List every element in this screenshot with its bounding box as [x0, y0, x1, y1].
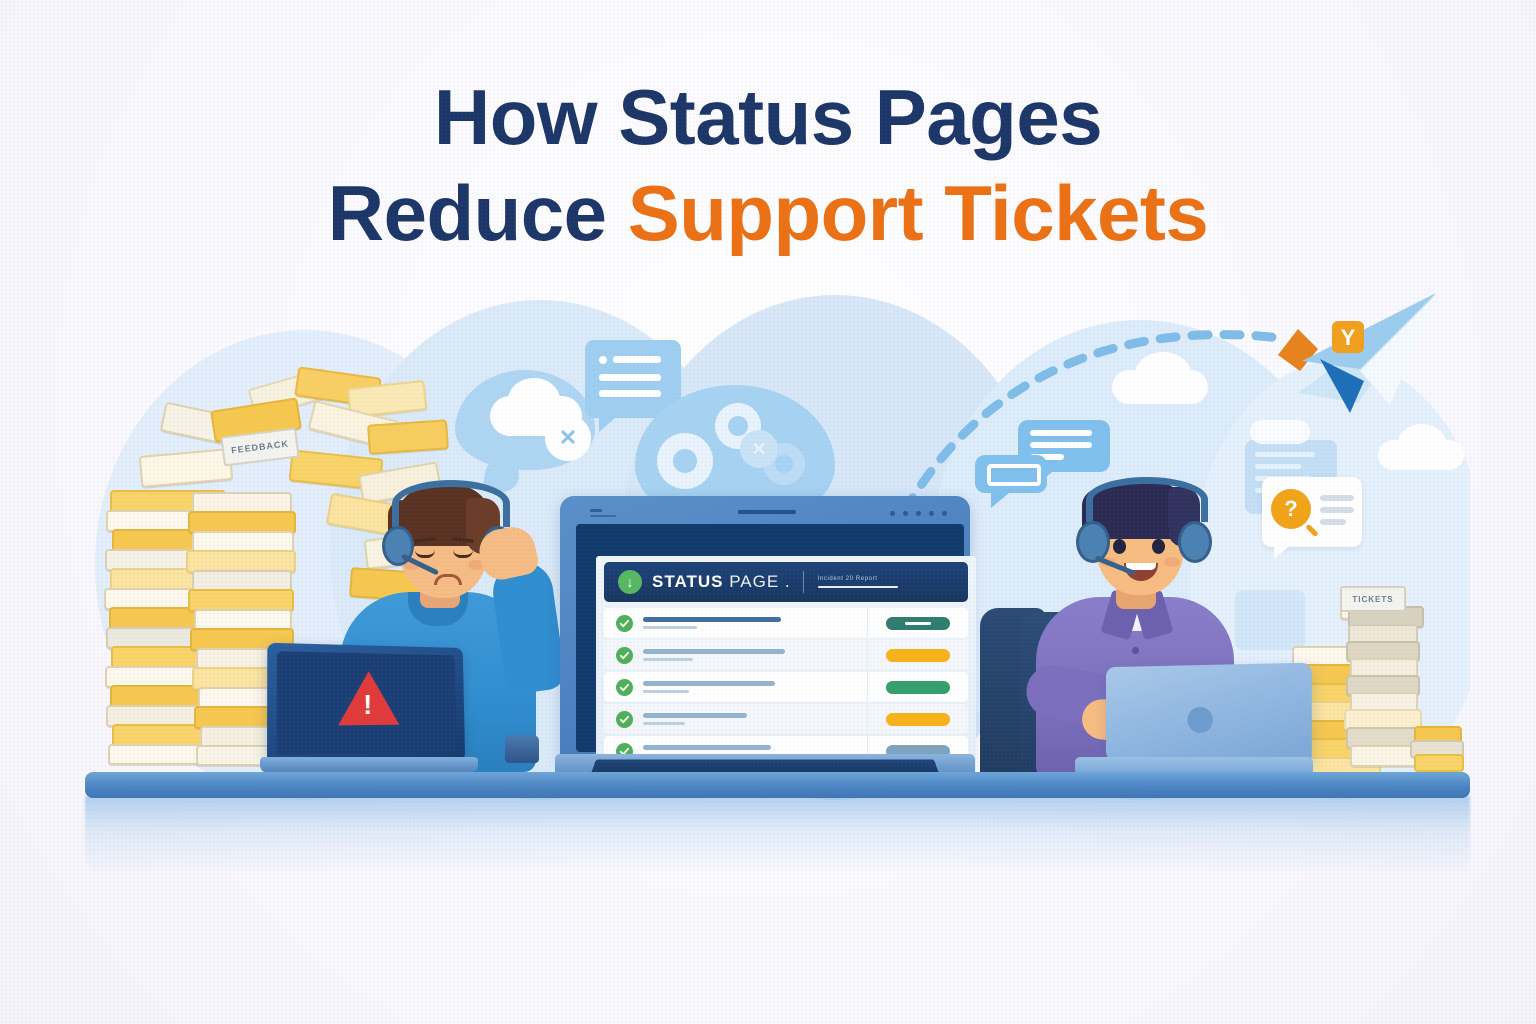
right-agent-laptop: [1075, 665, 1315, 783]
warning-exclamation: !: [363, 691, 372, 719]
brand-light: PAGE .: [723, 572, 790, 591]
status-row[interactable]: [604, 608, 968, 638]
status-page-screen: ↓ STATUS PAGE . Incident 20 Report: [596, 556, 976, 776]
row-status-cell: [867, 640, 968, 670]
cloud-icon: [508, 378, 560, 422]
laptop-lid: ↓ STATUS PAGE . Incident 20 Report: [560, 496, 970, 761]
title-line-2-accent: Support Tickets: [628, 169, 1209, 257]
headset-earcup-icon: [1076, 521, 1110, 563]
gear-icon: [657, 433, 713, 489]
title-line-2: Reduce Support Tickets: [0, 174, 1536, 252]
check-circle-icon: [616, 711, 633, 728]
header-meta-text: Incident 20 Report: [818, 576, 898, 582]
status-badge: [886, 713, 950, 726]
desk-reflection: [85, 796, 1470, 874]
status-page-laptop: ↓ STATUS PAGE . Incident 20 Report: [555, 496, 975, 796]
status-rows-table: [604, 608, 968, 768]
faq-card: ?: [1262, 477, 1362, 547]
status-badge: [886, 681, 950, 694]
x-mark-icon: ✕: [545, 415, 591, 461]
status-badge: [886, 649, 950, 662]
desk-surface: [85, 772, 1470, 798]
row-label-bars: [643, 713, 867, 725]
row-label-bars: [643, 617, 867, 629]
header-divider: [803, 571, 804, 593]
x-mark-icon: ✕: [740, 430, 778, 468]
headset-earcup-icon: [1178, 521, 1212, 563]
cloud-icon: [1398, 424, 1446, 462]
headset-band-icon: [1086, 477, 1208, 522]
row-status-cell: [867, 608, 968, 638]
illustration-canvas: How Status Pages Reduce Support Tickets …: [0, 0, 1536, 1024]
header-meta: Incident 20 Report: [818, 576, 898, 588]
brand-bold: STATUS: [652, 572, 723, 591]
desk-mouse: [505, 735, 539, 763]
download-circle-icon: ↓: [618, 570, 642, 594]
stack-label: TICKETS: [1340, 586, 1406, 612]
title-line-2-prefix: Reduce: [328, 169, 628, 257]
check-circle-icon: [616, 679, 633, 696]
status-badge: [886, 617, 950, 630]
row-status-cell: [867, 672, 968, 702]
status-page-brand: STATUS PAGE .: [652, 572, 791, 592]
status-row[interactable]: [604, 704, 968, 734]
svg-text:Y: Y: [1341, 325, 1356, 350]
paper-plane-icon: Y: [1240, 285, 1440, 415]
ticket-pile-right: TICKETS: [1288, 588, 1468, 778]
check-circle-icon: [616, 647, 633, 664]
title-line-1: How Status Pages: [0, 78, 1536, 156]
status-page-header: ↓ STATUS PAGE . Incident 20 Report: [604, 562, 968, 602]
row-status-cell: [867, 704, 968, 734]
status-row[interactable]: [604, 640, 968, 670]
question-magnifier-icon: ?: [1271, 489, 1311, 529]
check-circle-icon: [616, 615, 633, 632]
status-row[interactable]: [604, 672, 968, 702]
title-block: How Status Pages Reduce Support Tickets: [0, 78, 1536, 252]
left-agent-laptop: !: [270, 645, 470, 777]
row-label-bars: [643, 681, 867, 693]
headset-band-icon: [392, 480, 510, 527]
laptop-bezel: ↓ STATUS PAGE . Incident 20 Report: [576, 524, 964, 752]
row-label-bars: [643, 649, 867, 661]
header-meta-line: [818, 586, 898, 588]
